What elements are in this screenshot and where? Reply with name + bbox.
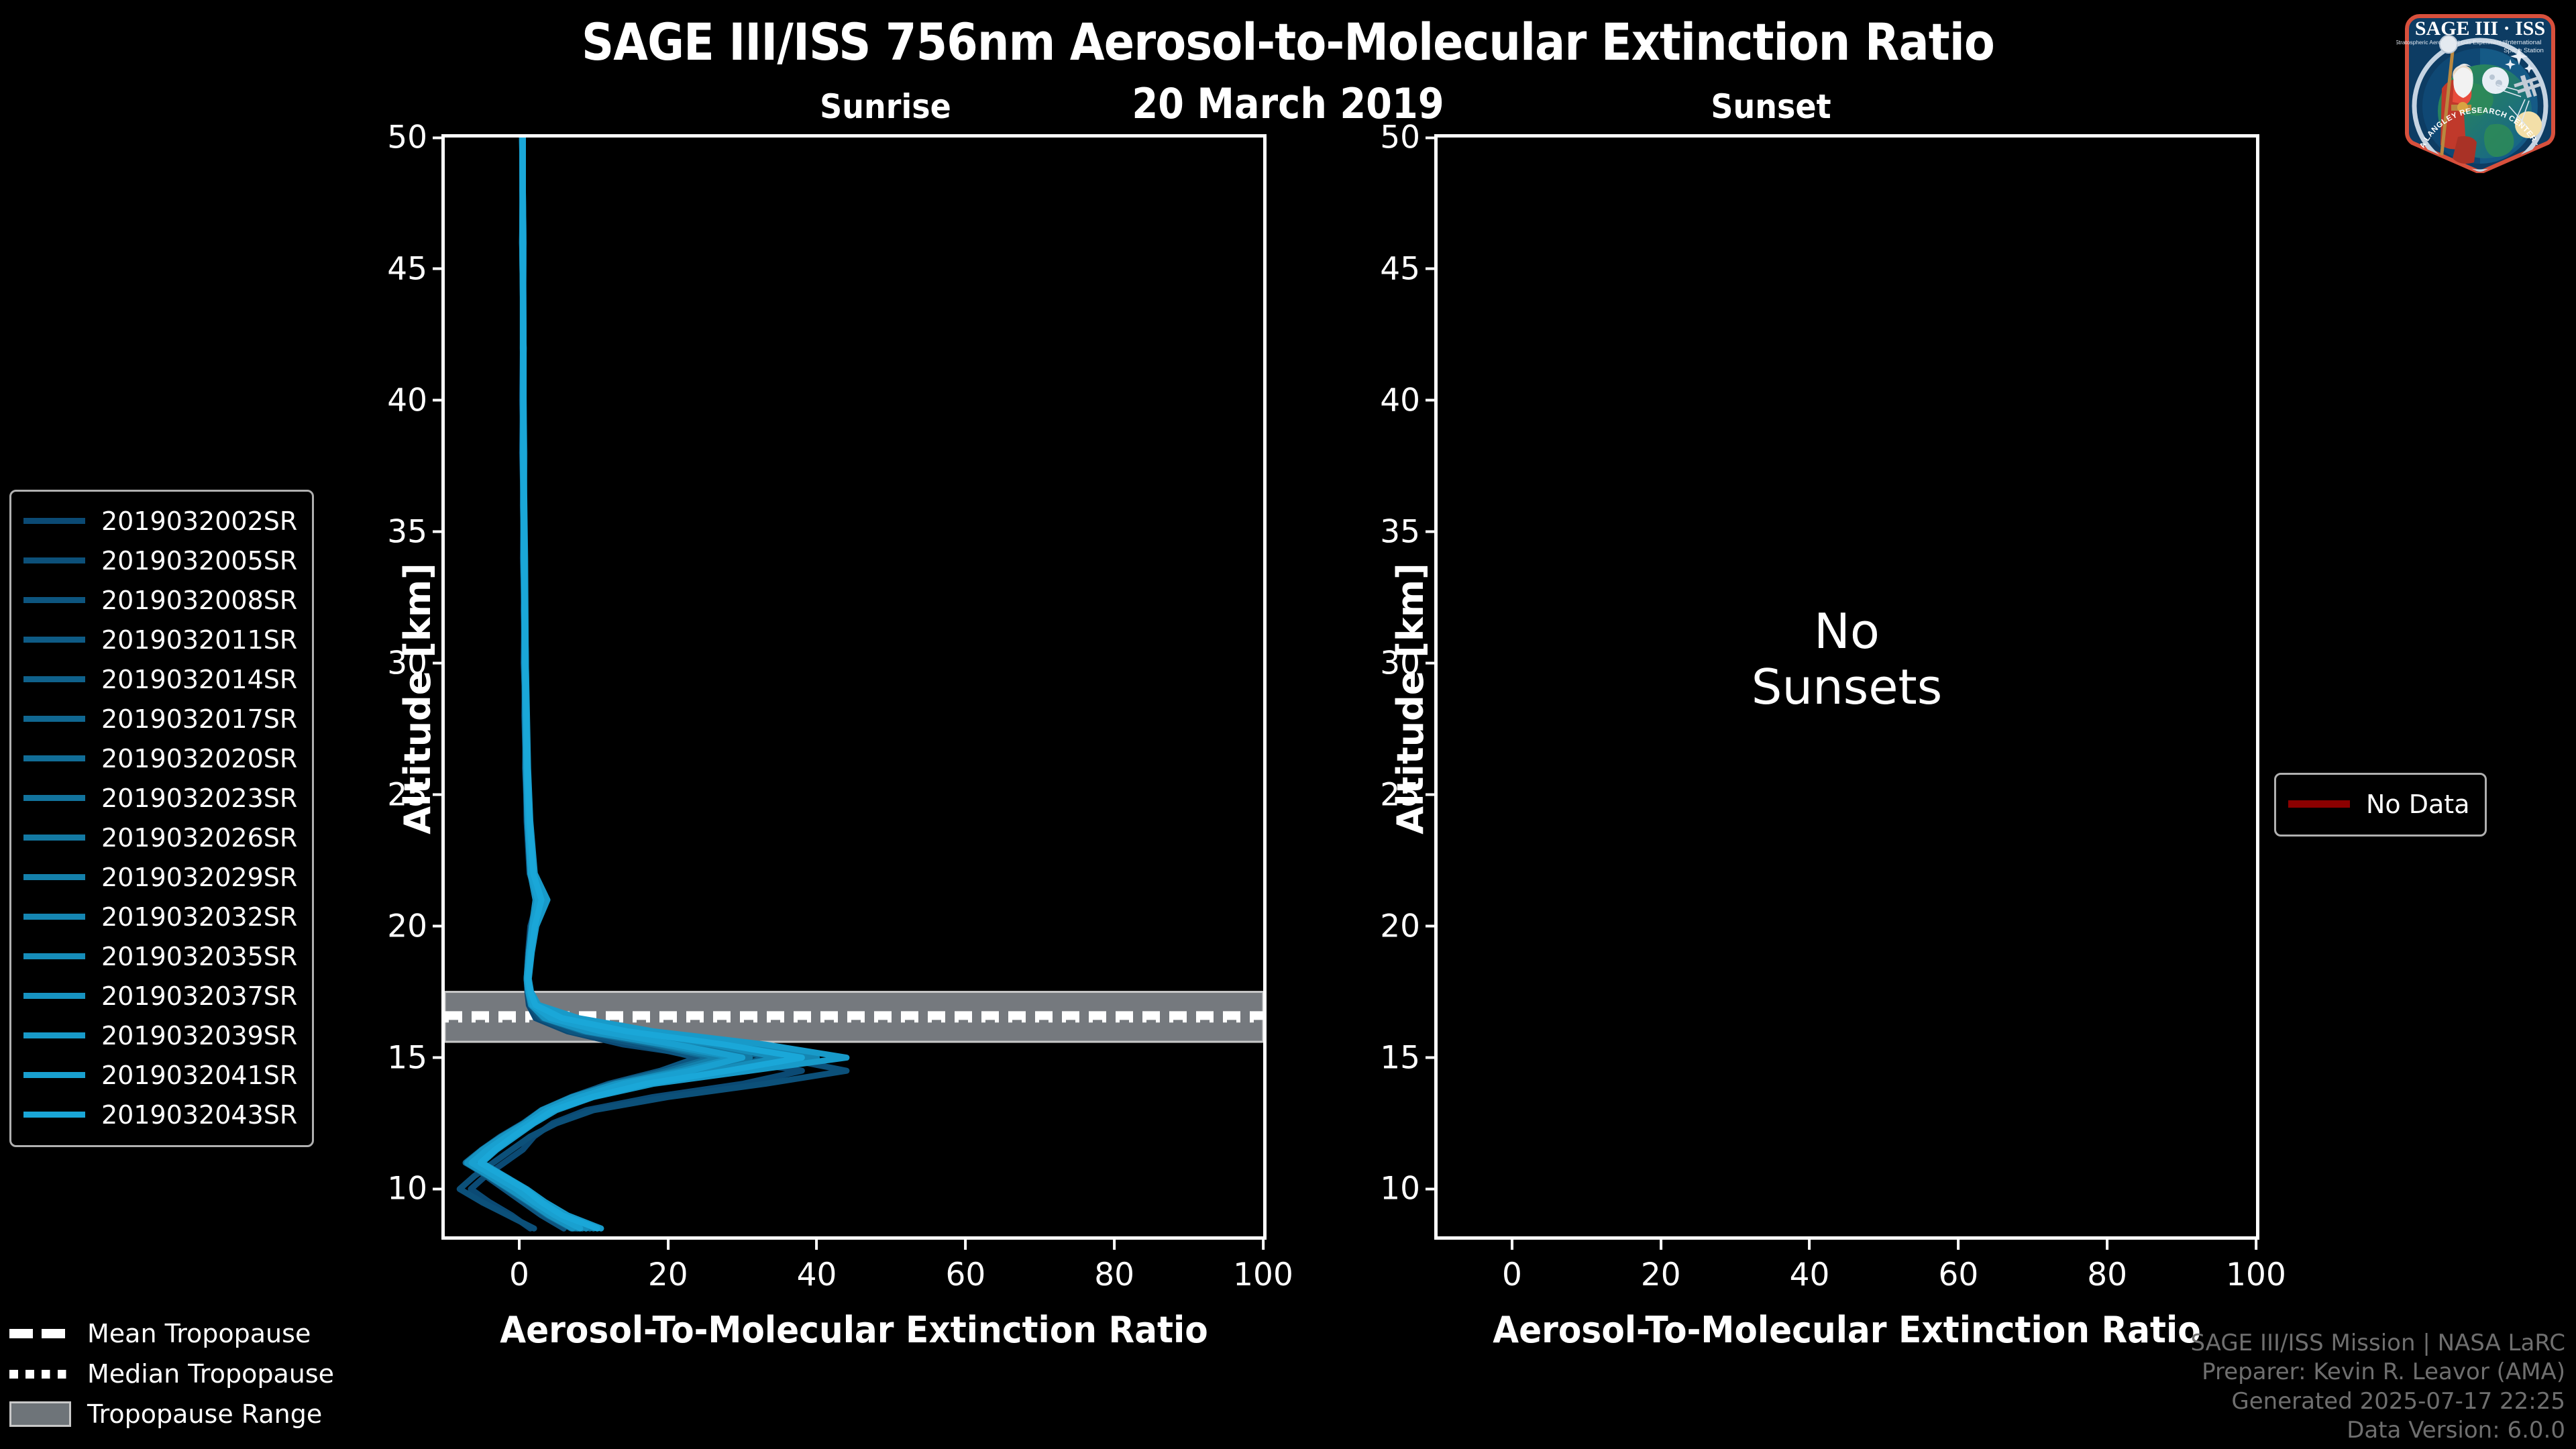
orbit-label: 2019032008SR xyxy=(101,586,297,615)
legend-item-orbit[interactable]: 2019032023SR xyxy=(23,778,297,818)
orbit-label: 2019032020SR xyxy=(101,744,297,773)
y-tick-label: 10 xyxy=(1380,1171,1438,1207)
y-tick-label: 10 xyxy=(387,1171,445,1207)
orbit-swatch-icon xyxy=(23,914,85,920)
orbit-label: 2019032005SR xyxy=(101,546,297,576)
logo-title: SAGE III · ISS xyxy=(2415,17,2545,40)
dashed-line-icon xyxy=(9,1329,71,1338)
y-tick-label: 50 xyxy=(387,119,445,156)
range-band-icon xyxy=(9,1401,71,1427)
no-sunsets-note: No Sunsets xyxy=(1434,604,2259,715)
orbit-label: 2019032023SR xyxy=(101,784,297,813)
y-tick-label: 40 xyxy=(387,382,445,419)
footer-line-4: Data Version: 6.0.0 xyxy=(2190,1416,2565,1445)
median-tropopause-label: Median Tropopause xyxy=(87,1359,334,1389)
orbit-label: 2019032043SR xyxy=(101,1100,297,1130)
orbit-swatch-icon xyxy=(23,953,85,959)
tropopause-legend: Mean Tropopause Median Tropopause Tropop… xyxy=(9,1313,334,1434)
x-tick-label: 100 xyxy=(2226,1236,2286,1293)
sunrise-plot-area: 101520253035404550 020406080100 Aerosol-… xyxy=(441,134,1267,1240)
legend-item-orbit[interactable]: 2019032041SR xyxy=(23,1055,297,1095)
page-title: SAGE III/ISS 756nm Aerosol-to-Molecular … xyxy=(154,12,2421,72)
no-sunsets-line-1: No xyxy=(1434,604,2259,659)
legend-item-mean-tropopause: Mean Tropopause xyxy=(9,1313,334,1354)
legend-item-orbit[interactable]: 2019032014SR xyxy=(23,659,297,699)
dotted-line-icon xyxy=(9,1370,71,1379)
no-data-legend[interactable]: No Data xyxy=(2274,773,2487,837)
sunrise-data-canvas xyxy=(445,138,1263,1236)
orbit-label: 2019032035SR xyxy=(101,942,297,971)
profile-line xyxy=(467,138,735,1228)
x-tick-label: 80 xyxy=(1094,1236,1134,1293)
x-tick-label: 0 xyxy=(1502,1236,1522,1293)
legend-item-orbit[interactable]: 2019032032SR xyxy=(23,897,297,936)
logo-subtitle-left: Stratospheric Aerosol and Gas Experiment… xyxy=(2396,39,2508,46)
legend-item-orbit[interactable]: 2019032005SR xyxy=(23,541,297,580)
orbit-label: 2019032002SR xyxy=(101,506,297,536)
x-tick-label: 60 xyxy=(945,1236,985,1293)
y-tick-label: 20 xyxy=(1380,908,1438,945)
orbit-label: 2019032011SR xyxy=(101,625,297,655)
figure-root: SAGE III/ISS 756nm Aerosol-to-Molecular … xyxy=(0,0,2576,1449)
x-tick-label: 100 xyxy=(1233,1236,1293,1293)
orbit-legend[interactable]: 2019032002SR2019032005SR2019032008SR2019… xyxy=(9,490,314,1147)
y-tick-label: 35 xyxy=(1380,513,1438,550)
orbit-swatch-icon xyxy=(23,637,85,643)
y-tick-label: 40 xyxy=(1380,382,1438,419)
mean-tropopause-label: Mean Tropopause xyxy=(87,1319,311,1348)
x-tick-label: 60 xyxy=(1938,1236,1978,1293)
orbit-swatch-icon xyxy=(23,676,85,682)
profile-line xyxy=(482,138,846,1228)
orbit-swatch-icon xyxy=(23,795,85,801)
orbit-label: 2019032014SR xyxy=(101,665,297,694)
y-tick-label: 15 xyxy=(1380,1039,1438,1076)
orbit-swatch-icon xyxy=(23,835,85,841)
footer-line-1: SAGE III/ISS Mission | NASA LaRC xyxy=(2190,1329,2565,1358)
orbit-swatch-icon xyxy=(23,1032,85,1038)
sunrise-x-axis-label: Aerosol-To-Molecular Extinction Ratio xyxy=(474,1309,1235,1351)
orbit-label: 2019032041SR xyxy=(101,1061,297,1090)
sunset-panel-title: Sunset xyxy=(1413,87,2129,126)
footer-line-2: Preparer: Kevin R. Leavor (AMA) xyxy=(2190,1358,2565,1387)
sunset-x-axis-label: Aerosol-To-Molecular Extinction Ratio xyxy=(1466,1309,2228,1351)
x-tick-label: 20 xyxy=(1641,1236,1681,1293)
legend-item-orbit[interactable]: 2019032043SR xyxy=(23,1095,297,1134)
x-tick-label: 40 xyxy=(797,1236,837,1293)
orbit-swatch-icon xyxy=(23,874,85,880)
legend-item-median-tropopause: Median Tropopause xyxy=(9,1354,334,1394)
legend-item-orbit[interactable]: 2019032039SR xyxy=(23,1016,297,1055)
logo-subtitle-right-2: Space Station xyxy=(2504,47,2544,54)
orbit-label: 2019032032SR xyxy=(101,902,297,932)
profile-line xyxy=(472,138,743,1228)
orbit-label: 2019032037SR xyxy=(101,981,297,1011)
no-data-swatch-icon xyxy=(2288,800,2350,808)
sage-iii-iss-mission-patch-icon: BALL · NASA LANGLEY RESEARCH CENTER · TA… xyxy=(2396,5,2564,173)
legend-item-orbit[interactable]: 2019032008SR xyxy=(23,580,297,620)
orbit-swatch-icon xyxy=(23,1072,85,1078)
legend-item-no-data[interactable]: No Data xyxy=(2288,784,2470,824)
orbit-swatch-icon xyxy=(23,597,85,603)
footer-line-3: Generated 2025-07-17 22:25 xyxy=(2190,1387,2565,1416)
y-tick-label: 50 xyxy=(1380,119,1438,156)
y-tick-label: 45 xyxy=(387,250,445,287)
orbit-swatch-icon xyxy=(23,557,85,563)
footer-attribution: SAGE III/ISS Mission | NASA LaRC Prepare… xyxy=(2190,1329,2565,1445)
legend-item-orbit[interactable]: 2019032037SR xyxy=(23,976,297,1016)
legend-item-tropopause-range: Tropopause Range xyxy=(9,1394,334,1434)
y-tick-label: 20 xyxy=(387,908,445,945)
legend-item-orbit[interactable]: 2019032002SR xyxy=(23,501,297,541)
sunset-y-axis-label: Altitude [km] xyxy=(1389,563,1432,835)
x-tick-label: 80 xyxy=(2087,1236,2127,1293)
legend-item-orbit[interactable]: 2019032011SR xyxy=(23,620,297,659)
orbit-swatch-icon xyxy=(23,518,85,524)
legend-item-orbit[interactable]: 2019032026SR xyxy=(23,818,297,857)
no-sunsets-line-2: Sunsets xyxy=(1434,659,2259,715)
sunrise-y-axis-label: Altitude [km] xyxy=(396,563,439,835)
sunrise-panel-title: Sunrise xyxy=(527,87,1243,126)
legend-item-orbit[interactable]: 2019032017SR xyxy=(23,699,297,739)
orbit-label: 2019032017SR xyxy=(101,704,297,734)
orbit-swatch-icon xyxy=(23,993,85,999)
legend-item-orbit[interactable]: 2019032029SR xyxy=(23,857,297,897)
tropopause-range-label: Tropopause Range xyxy=(87,1399,322,1429)
orbit-label: 2019032039SR xyxy=(101,1021,297,1051)
x-tick-label: 40 xyxy=(1790,1236,1830,1293)
x-tick-label: 0 xyxy=(509,1236,529,1293)
profile-line xyxy=(467,138,698,1228)
legend-item-orbit[interactable]: 2019032035SR xyxy=(23,936,297,976)
logo-subtitle-right-1: International xyxy=(2506,39,2542,46)
x-tick-label: 20 xyxy=(648,1236,688,1293)
orbit-swatch-icon xyxy=(23,755,85,761)
orbit-label: 2019032029SR xyxy=(101,863,297,892)
y-tick-label: 45 xyxy=(1380,250,1438,287)
y-tick-label: 15 xyxy=(387,1039,445,1076)
legend-item-orbit[interactable]: 2019032020SR xyxy=(23,739,297,778)
orbit-swatch-icon xyxy=(23,1112,85,1118)
y-tick-label: 35 xyxy=(387,513,445,550)
orbit-label: 2019032026SR xyxy=(101,823,297,853)
orbit-swatch-icon xyxy=(23,716,85,722)
no-data-label: No Data xyxy=(2366,790,2470,819)
